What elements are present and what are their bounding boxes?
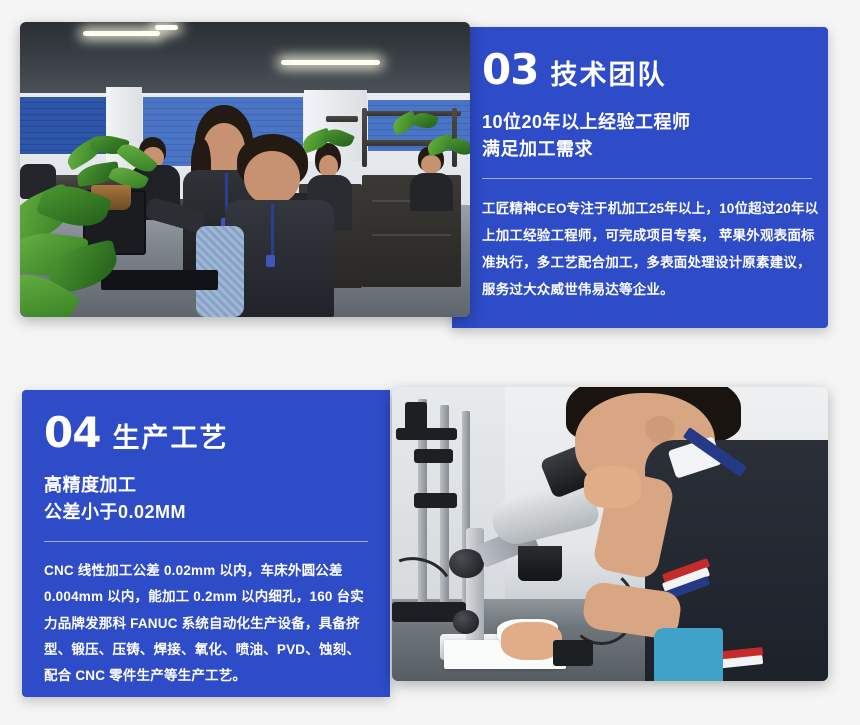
section-body-text: CNC 线性加工公差 0.02mm 以内，车床外圆公差0.004mm 以内，能加…	[44, 558, 368, 690]
lanyard-strap	[271, 204, 274, 259]
stand-clamp-4	[414, 493, 458, 508]
plant-far-right	[425, 134, 470, 175]
subtitle-line-2: 公差小于0.02MM	[44, 499, 360, 526]
subtitle-line-1: 10位20年以上经验工程师	[482, 109, 806, 136]
stand-clamp-3	[414, 449, 453, 464]
torso	[410, 173, 453, 211]
ceiling-light-2	[281, 60, 380, 65]
focus-knob-small	[453, 610, 479, 634]
subtitle-line-1: 高精度加工	[44, 472, 360, 499]
section-heading: 03 技术团队	[482, 49, 806, 91]
worker-trousers	[654, 628, 724, 681]
shelf-unit-small	[326, 116, 358, 122]
ceiling-light-1	[83, 31, 160, 36]
divider-line	[482, 178, 812, 179]
leaf	[323, 125, 355, 151]
section-title: 技术团队	[550, 62, 666, 89]
microscope-scene	[392, 387, 828, 681]
worker-ear	[645, 416, 676, 442]
section-production-process: 04 生产工艺 高精度加工 公差小于0.02MM CNC 线性加工公差 0.02…	[0, 360, 860, 725]
worker-hand-upper	[584, 466, 641, 507]
section-technical-team: 03 技术团队 10位20年以上经验工程师 满足加工需求 工匠精神CEO专注于机…	[0, 0, 860, 360]
id-badge	[266, 255, 275, 267]
section-subtitle: 10位20年以上经验工程师 满足加工需求	[482, 109, 806, 163]
focus-knob-large	[449, 549, 484, 578]
stand-clamp-1	[405, 402, 427, 431]
cabinet-drawer-line-2	[372, 234, 451, 236]
technical-team-photo	[20, 22, 470, 317]
divider-line	[44, 541, 368, 542]
ceiling-light-3	[155, 25, 178, 30]
leaf	[411, 110, 438, 131]
section-heading: 04 生产工艺	[44, 412, 360, 454]
section-title: 生产工艺	[112, 425, 228, 452]
section-body-text: 工匠精神CEO专注于机加工25年以上，10位超过20年以上加工经验工程师，可完成…	[482, 195, 820, 303]
office-scene	[20, 22, 470, 317]
technical-team-info-panel: 03 技术团队 10位20年以上经验工程师 满足加工需求 工匠精神CEO专注于机…	[452, 27, 828, 328]
stand-clamp-2	[396, 428, 457, 440]
shelf-post-a	[362, 108, 367, 167]
section-subtitle: 高精度加工 公差小于0.02MM	[44, 472, 360, 526]
plant-foreground	[20, 187, 137, 317]
production-process-info-panel: 04 生产工艺 高精度加工 公差小于0.02MM CNC 线性加工公差 0.02…	[22, 390, 390, 697]
plant-right	[299, 128, 362, 175]
microscope-objective	[518, 546, 562, 581]
section-number: 03	[482, 49, 538, 91]
head	[244, 151, 300, 206]
worker-wristwatch	[553, 640, 592, 666]
production-process-photo	[392, 387, 828, 681]
section-number: 04	[44, 412, 100, 454]
subtitle-line-2: 满足加工需求	[482, 136, 806, 163]
